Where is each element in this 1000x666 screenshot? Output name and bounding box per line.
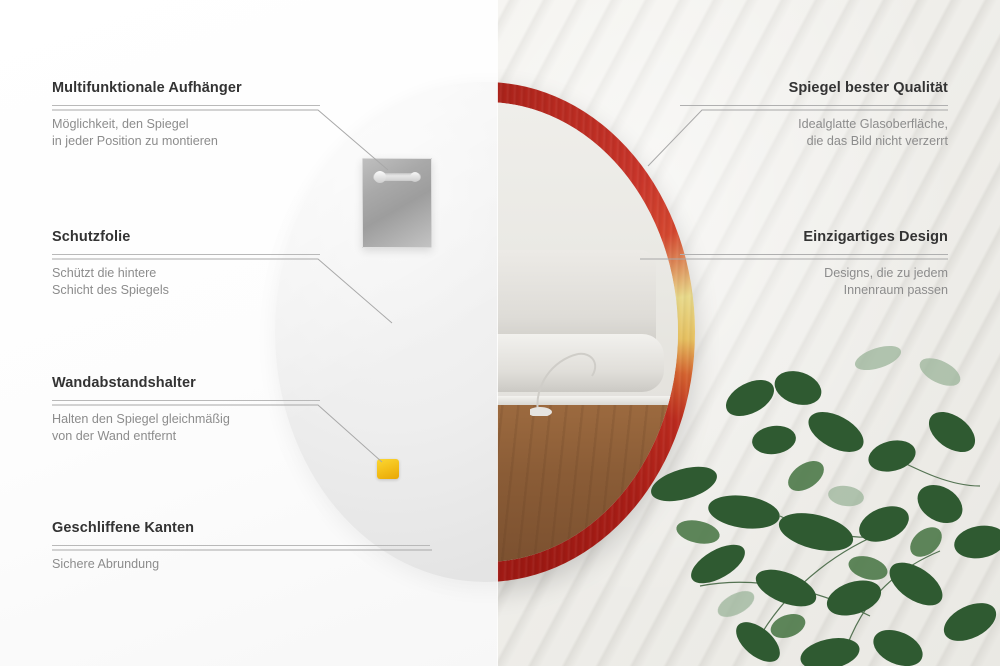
callout-wandabstandshalter: Wandabstandshalter Halten den Spiegel gl…: [52, 375, 320, 445]
reflected-sofa-backrest: [497, 250, 656, 346]
callout-spiegel-bester-qualitaet: Spiegel bester Qualität Idealglatte Glas…: [680, 80, 948, 150]
callout-description-line-1: Halten den Spiegel gleichmäßig: [52, 412, 230, 426]
callout-rule: [52, 254, 320, 255]
callout-description: Halten den Spiegel gleichmäßig von der W…: [52, 411, 320, 445]
callout-description: Designs, die zu jedem Innenraum passen: [680, 265, 948, 299]
callout-einzigartiges-design: Einzigartiges Design Designs, die zu jed…: [680, 229, 948, 299]
callout-rule: [52, 105, 320, 106]
reflected-floor-lamp: [530, 338, 608, 416]
callout-rule: [52, 545, 430, 546]
panel-divider: [497, 0, 498, 666]
callout-description-line-1: Schützt die hintere: [52, 266, 156, 280]
hanger-plate: [362, 158, 432, 248]
callout-rule: [680, 254, 948, 255]
infographic-canvas: Multifunktionale Aufhänger Möglichkeit, …: [0, 0, 1000, 666]
callout-description: Idealglatte Glasoberfläche, die das Bild…: [680, 116, 948, 150]
callout-title: Geschliffene Kanten: [52, 520, 430, 536]
callout-schutzfolie: Schutzfolie Schützt die hintere Schicht …: [52, 229, 320, 299]
callout-description-line-1: Sichere Abrundung: [52, 557, 159, 571]
eucalyptus-plant-decoration: [640, 336, 1000, 666]
callout-rule: [52, 400, 320, 401]
callout-description-line-2: die das Bild nicht verzerrt: [807, 134, 948, 148]
callout-description-line-2: von der Wand entfernt: [52, 429, 176, 443]
callout-title: Wandabstandshalter: [52, 375, 320, 391]
keyhole-slot-icon: [373, 173, 421, 181]
leaves-icon: [640, 336, 1000, 666]
callout-description-line-2: Schicht des Spiegels: [52, 283, 169, 297]
wall-spacer-block: [377, 459, 399, 479]
callout-title: Multifunktionale Aufhänger: [52, 80, 320, 96]
callout-rule: [680, 105, 948, 106]
callout-geschliffene-kanten: Geschliffene Kanten Sichere Abrundung: [52, 520, 430, 573]
callout-title: Spiegel bester Qualität: [680, 80, 948, 96]
callout-title: Schutzfolie: [52, 229, 320, 245]
callout-title: Einzigartiges Design: [680, 229, 948, 245]
callout-description-line-1: Möglichkeit, den Spiegel: [52, 117, 189, 131]
callout-description-line-1: Designs, die zu jedem: [824, 266, 948, 280]
callout-description: Möglichkeit, den Spiegel in jeder Positi…: [52, 116, 320, 150]
callout-description-line-2: Innenraum passen: [844, 283, 948, 297]
callout-description: Sichere Abrundung: [52, 556, 430, 573]
callout-description-line-1: Idealglatte Glasoberfläche,: [798, 117, 948, 131]
callout-description-line-2: in jeder Position zu montieren: [52, 134, 218, 148]
mirror-back-highlight: [275, 82, 498, 582]
callout-description: Schützt die hintere Schicht des Spiegels: [52, 265, 320, 299]
callout-multifunktionale-aufhaenger: Multifunktionale Aufhänger Möglichkeit, …: [52, 80, 320, 150]
